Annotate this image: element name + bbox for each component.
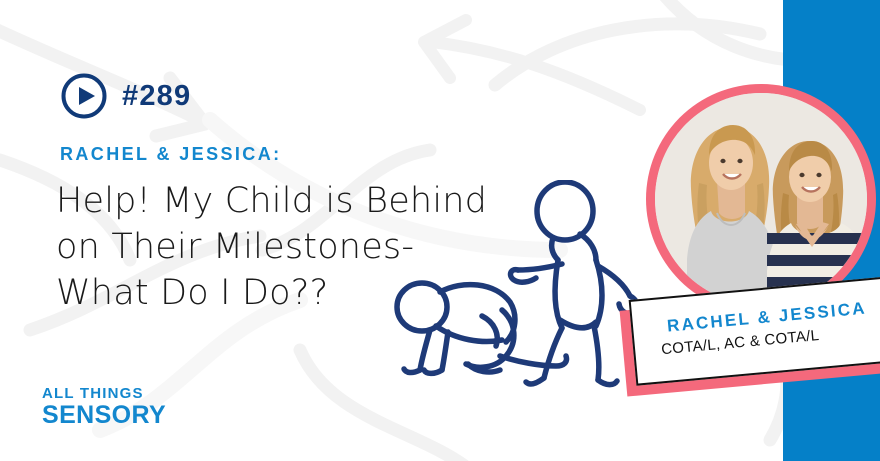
- logo-line-top: ALL THINGS: [42, 386, 166, 401]
- podcast-episode-cover: #289 RACHEL & JESSICA: Help! My Child is…: [0, 0, 880, 461]
- speakers-label: RACHEL & JESSICA:: [60, 145, 282, 163]
- brand-logo: ALL THINGS SENSORY: [42, 386, 166, 428]
- logo-line-bottom: SENSORY: [42, 403, 166, 428]
- play-circle-icon[interactable]: [60, 72, 108, 120]
- rachel-and-jessica-portrait: [655, 93, 867, 305]
- host-photo: [646, 84, 876, 314]
- photo-frame: [655, 93, 867, 305]
- episode-row: #289: [60, 72, 191, 120]
- episode-number: #289: [122, 82, 191, 111]
